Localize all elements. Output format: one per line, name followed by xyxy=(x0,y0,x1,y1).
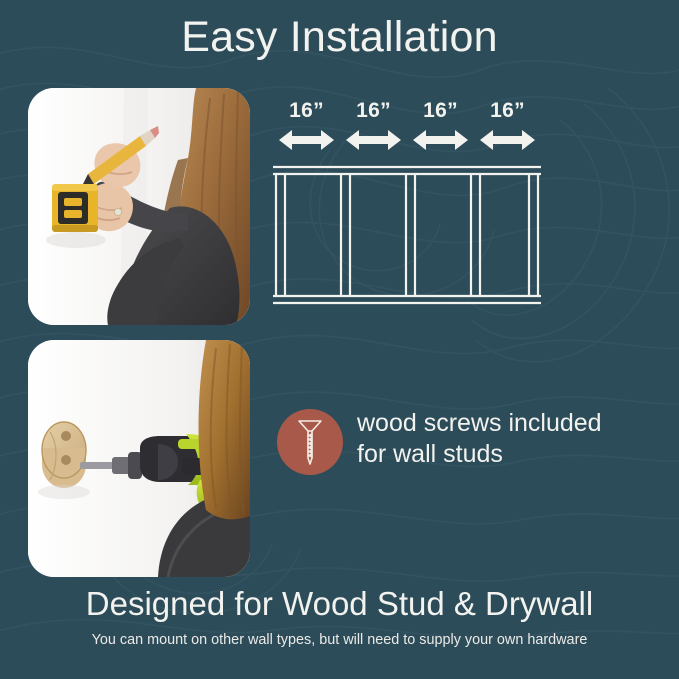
installation-infographic: Easy Installation xyxy=(0,0,679,679)
screw-callout-line-2: for wall studs xyxy=(357,439,602,470)
spacing-cell-1: 16” xyxy=(273,100,340,160)
screw-badge xyxy=(277,409,343,475)
spacing-label-4: 16” xyxy=(474,100,541,121)
double-arrow-icon xyxy=(346,129,401,151)
stud-finder-photo xyxy=(28,88,250,325)
wood-screw-icon xyxy=(296,418,324,467)
screw-callout-line-1: wood screws included xyxy=(357,408,602,439)
footer-subtitle: You can mount on other wall types, but w… xyxy=(14,631,666,649)
drill-photo xyxy=(28,340,250,577)
double-arrow-icon xyxy=(413,129,468,151)
page-title: Easy Installation xyxy=(0,14,679,61)
spacing-label-1: 16” xyxy=(273,100,340,121)
spacing-cell-3: 16” xyxy=(407,100,474,160)
spacing-label-2: 16” xyxy=(340,100,407,121)
footer-title: Designed for Wood Stud & Drywall xyxy=(0,586,679,622)
double-arrow-icon xyxy=(480,129,535,151)
stud-spacing-measurements: 16” 16” 16” 16” xyxy=(273,100,541,160)
spacing-label-3: 16” xyxy=(407,100,474,121)
spacing-cell-4: 16” xyxy=(474,100,541,160)
screw-callout-text: wood screws included for wall studs xyxy=(357,408,602,469)
wall-stud-frame-diagram xyxy=(272,165,542,305)
wood-screws-callout: wood screws included for wall studs xyxy=(277,409,647,483)
spacing-cell-2: 16” xyxy=(340,100,407,160)
double-arrow-icon xyxy=(279,129,334,151)
